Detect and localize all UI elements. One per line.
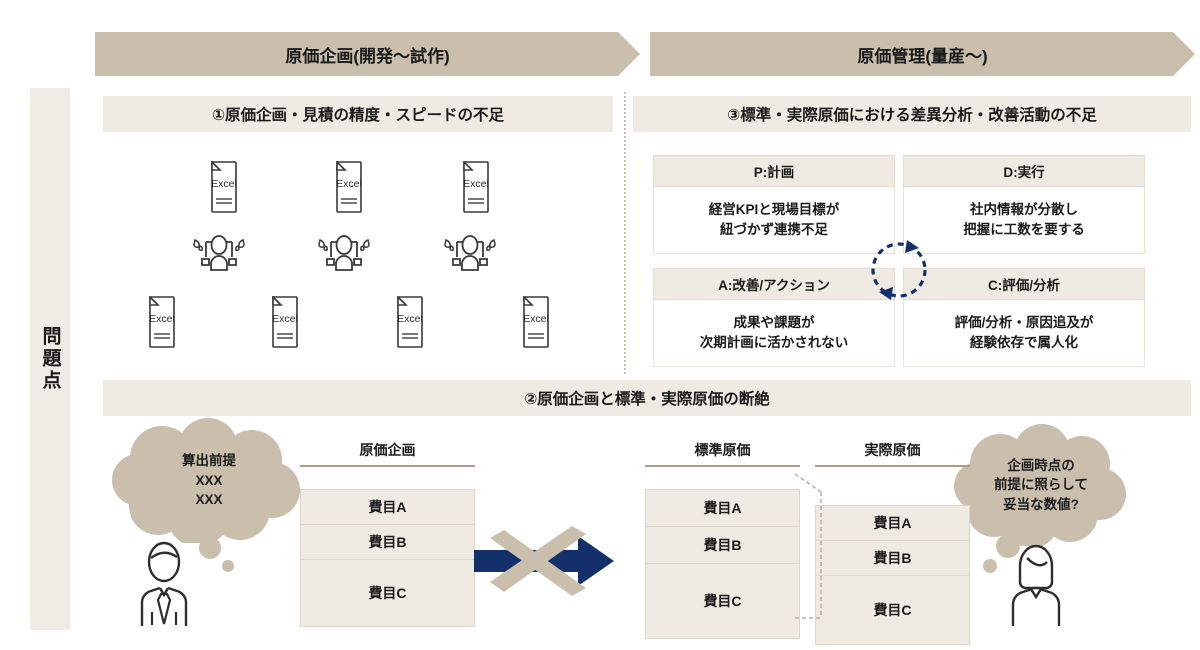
cost-table-standard: 標準原価 費目A 費目B 費目C xyxy=(645,440,800,639)
thought-cloud-left: 算出前提 XXX XXX xyxy=(110,418,308,543)
table-row: 費目B xyxy=(301,525,474,560)
problem-points-side-label: 問題点 xyxy=(30,88,70,630)
pdca-check-line2: 経験依存で属人化 xyxy=(970,333,1078,353)
svg-text:Excel: Excel xyxy=(523,313,549,325)
blocked-arrow-icon xyxy=(468,524,620,598)
pdca-do-line2: 把握に工数を要する xyxy=(963,220,1085,240)
excel-file-icon: Excel xyxy=(389,296,431,348)
stressed-worker-icon xyxy=(189,232,249,272)
businessman-icon xyxy=(128,536,200,628)
cost-table-standard-rows: 費目A 費目B 費目C xyxy=(645,489,800,639)
banner-cost-management: 原価管理(量産〜) xyxy=(650,32,1195,76)
svg-text:Excel: Excel xyxy=(336,178,362,190)
svg-text:Excel: Excel xyxy=(272,313,298,325)
pdca-cycle-arrow-icon xyxy=(857,228,941,312)
side-label-text: 問題点 xyxy=(37,326,64,392)
svg-text:Excel: Excel xyxy=(463,178,489,190)
table-row: 費目B xyxy=(816,541,969,576)
banner-cost-planning: 原価企画(開発〜試作) xyxy=(95,32,640,76)
cost-table-planning: 原価企画 費目A 費目B 費目C xyxy=(300,440,475,627)
cost-table-actual-rows: 費目A 費目B 費目C xyxy=(815,505,970,645)
section-two-heading: ②原価企画と標準・実際原価の断絶 xyxy=(103,380,1191,416)
pdca-action-line1: 成果や課題が xyxy=(734,313,815,333)
pdca-plan-line1: 経営KPIと現場目標が xyxy=(709,200,840,220)
column-divider xyxy=(624,92,626,374)
stressed-worker-icon xyxy=(314,232,374,272)
excel-file-icon: Excel xyxy=(455,161,497,213)
pdca-check-line1: 評価/分析・原因追及が xyxy=(955,313,1094,333)
stressed-worker-icon xyxy=(440,232,500,272)
pdca-plan-line2: 紐づかず連携不足 xyxy=(720,220,828,240)
svg-text:Excel: Excel xyxy=(397,313,423,325)
banner-left-label: 原価企画(開発〜試作) xyxy=(285,42,449,67)
excel-file-icon: Excel xyxy=(264,296,306,348)
cost-table-planning-title: 原価企画 xyxy=(300,440,475,467)
table-row: 費目A xyxy=(301,490,474,525)
pdca-plan-title: P:計画 xyxy=(653,155,895,187)
pdca-do-line1: 社内情報が分散し xyxy=(970,200,1078,220)
table-row: 費目A xyxy=(646,490,799,527)
cost-table-actual-title: 実際原価 xyxy=(815,440,970,467)
thought-cloud-right: 企画時点の 前提に照らして 妥当な数値? xyxy=(952,424,1130,546)
cost-table-standard-title: 標準原価 xyxy=(645,440,800,467)
businesswoman-icon xyxy=(1000,536,1072,628)
table-row: 費目A xyxy=(816,506,969,541)
diagram-canvas: 問題点 原価企画(開発〜試作) 原価管理(量産〜) ①原価企画・見積の精度・スピ… xyxy=(0,0,1200,650)
banner-right-label: 原価管理(量産〜) xyxy=(857,42,987,67)
section-three-heading: ③標準・実際原価における差異分析・改善活動の不足 xyxy=(633,96,1191,132)
excel-file-icon: Excel xyxy=(141,296,183,348)
svg-text:Excel: Excel xyxy=(149,313,175,325)
pdca-action-line2: 次期計画に活かされない xyxy=(700,333,849,353)
cost-table-actual: 実際原価 費目A 費目B 費目C xyxy=(815,440,970,645)
table-row: 費目C xyxy=(646,564,799,638)
excel-file-icon: Excel xyxy=(515,296,557,348)
excel-file-icon: Excel xyxy=(203,161,245,213)
section-one-heading: ①原価企画・見積の精度・スピードの不足 xyxy=(103,96,613,132)
excel-file-icon: Excel xyxy=(328,161,370,213)
svg-text:Excel: Excel xyxy=(211,178,237,190)
table-row: 費目C xyxy=(816,576,969,644)
table-connector-dashed xyxy=(795,470,823,622)
table-row: 費目B xyxy=(646,527,799,564)
pdca-do-title: D:実行 xyxy=(903,155,1145,187)
table-row: 費目C xyxy=(301,560,474,626)
thought-bubble-dots-left xyxy=(196,536,236,576)
cost-table-planning-rows: 費目A 費目B 費目C xyxy=(300,489,475,627)
